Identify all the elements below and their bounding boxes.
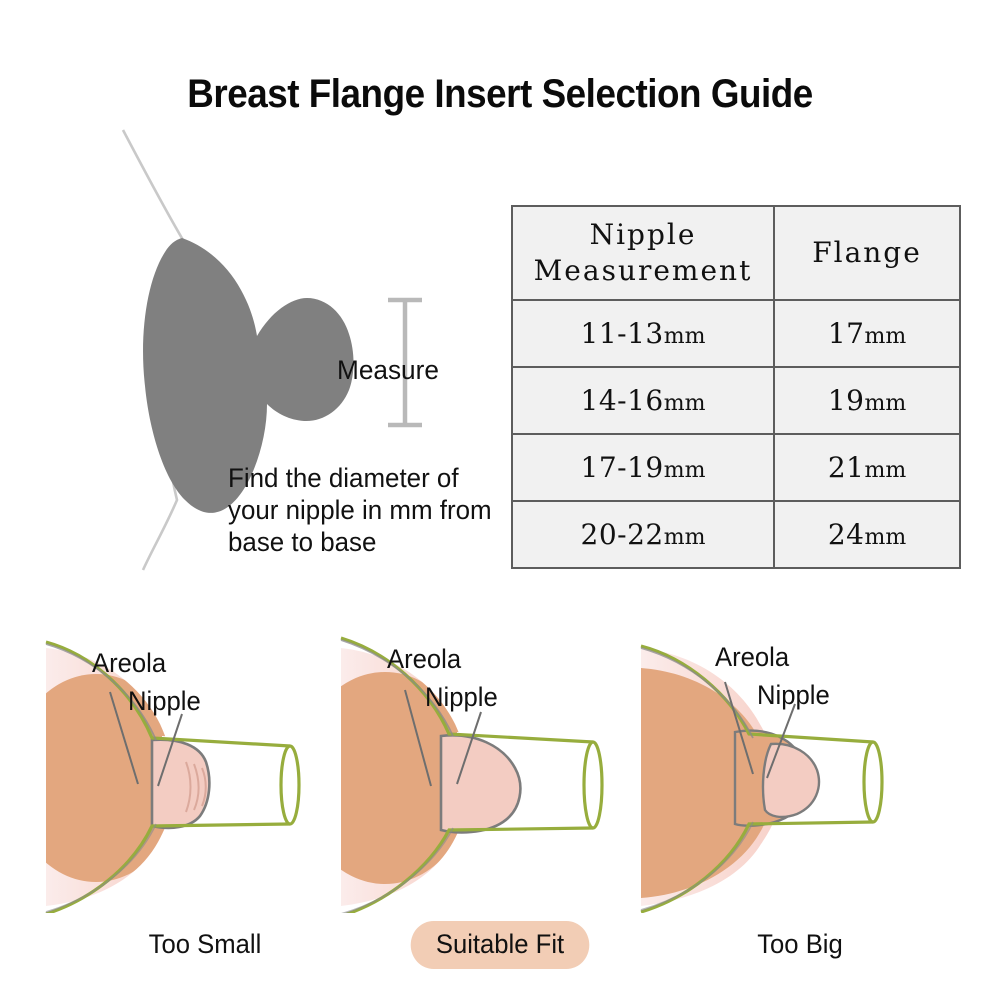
nipple-label: Nipple <box>425 682 498 713</box>
areola-label: Areola <box>92 648 166 679</box>
cell-nipple-range: 17-19mm <box>512 434 774 501</box>
cell-nipple-range: 14-16mm <box>512 367 774 434</box>
table-row: 20-22mm 24mm <box>512 501 960 568</box>
table-body: 11-13mm 17mm 14-16mm 19mm 17-19mm 21mm 2… <box>512 300 960 568</box>
fit-examples-row: Areola Nipple Too Small <box>0 628 1000 1000</box>
cell-nipple-range: 11-13mm <box>512 300 774 367</box>
fit-example-too-small: Areola Nipple Too Small <box>40 628 370 1000</box>
cell-flange-size: 21mm <box>774 434 960 501</box>
cell-flange-size: 17mm <box>774 300 960 367</box>
nipple-shape <box>152 740 209 828</box>
table-row: 14-16mm 19mm <box>512 367 960 434</box>
caption-text: Too Small <box>149 921 262 969</box>
areola-label: Areola <box>387 644 461 675</box>
header-nipple-line2: Measurement <box>513 253 773 289</box>
caption-text: Too Big <box>757 921 843 969</box>
header-nipple-line1: Nipple <box>513 217 773 253</box>
areola-label: Areola <box>715 642 789 673</box>
measure-caliper-label: Measure <box>337 355 439 386</box>
cell-flange-size: 24mm <box>774 501 960 568</box>
suitable-fit-caption: Suitable Fit <box>343 921 657 969</box>
measurement-instruction: Find the diameter of your nipple in mm f… <box>228 462 506 558</box>
table-header-row: Nipple Measurement Flange <box>512 206 960 300</box>
flange-size-table: Nipple Measurement Flange 11-13mm 17mm 1… <box>511 205 961 569</box>
suitable-fit-illustration <box>335 628 665 913</box>
too-big-caption: Too Big <box>643 921 957 969</box>
too-small-caption: Too Small <box>48 921 362 969</box>
too-big-illustration <box>635 628 965 913</box>
page-title: Breast Flange Insert Selection Guide <box>40 72 960 117</box>
status-badge: Suitable Fit <box>411 921 589 969</box>
too-small-illustration <box>40 628 370 913</box>
cell-nipple-range: 20-22mm <box>512 501 774 568</box>
header-nipple-measurement: Nipple Measurement <box>512 206 774 300</box>
fit-example-too-big: Areola Nipple Too Big <box>635 628 965 1000</box>
header-flange: Flange <box>774 206 960 300</box>
fit-example-suitable-fit: Areola Nipple Suitable Fit <box>335 628 665 1000</box>
table-row: 11-13mm 17mm <box>512 300 960 367</box>
nipple-label: Nipple <box>757 680 830 711</box>
nipple-label: Nipple <box>128 686 201 717</box>
guide-page: Breast Flange Insert Selection Guide Mea… <box>0 0 1000 1000</box>
table-row: 17-19mm 21mm <box>512 434 960 501</box>
cell-flange-size: 19mm <box>774 367 960 434</box>
